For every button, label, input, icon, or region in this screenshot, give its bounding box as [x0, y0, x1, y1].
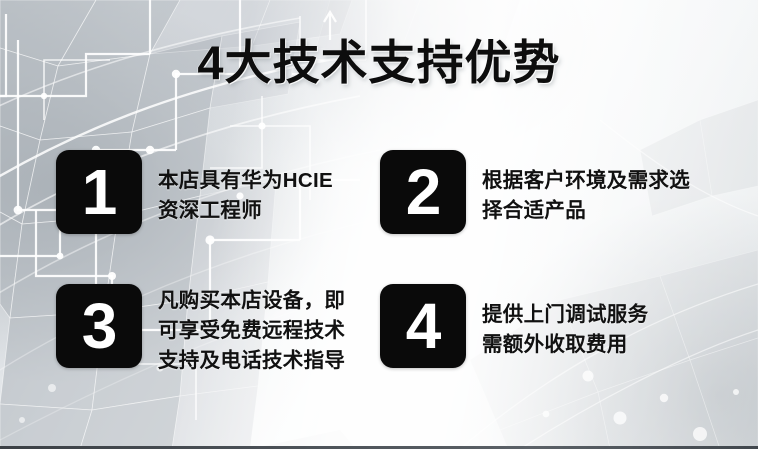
feature-item-4: 4 提供上门调试服务 需额外收取费用: [380, 284, 648, 368]
promo-poster: 4大技术支持优势 1 本店具有华为HCIE 资深工程师 2 根据客户环境及需求选…: [0, 0, 758, 449]
feature-text-4: 提供上门调试服务 需额外收取费用: [482, 284, 648, 360]
feature-number-badge-3: 3: [56, 284, 142, 368]
feature-number-badge-1: 1: [56, 150, 142, 234]
feature-text-line: 需额外收取费用: [482, 330, 648, 360]
feature-text-line: 凡购买本店设备，即: [158, 286, 345, 316]
page-title: 4大技术支持优势: [0, 38, 758, 89]
feature-text-1: 本店具有华为HCIE 资深工程师: [158, 150, 333, 226]
feature-text-2: 根据客户环境及需求选 择合适产品: [482, 150, 690, 226]
feature-text-line: 择合适产品: [482, 196, 690, 226]
feature-number-badge-2: 2: [380, 150, 466, 234]
feature-text-line: 本店具有华为HCIE: [158, 166, 333, 196]
feature-text-line: 根据客户环境及需求选: [482, 166, 690, 196]
feature-text-line: 可享受免费远程技术: [158, 316, 345, 346]
feature-text-3: 凡购买本店设备，即 可享受免费远程技术 支持及电话技术指导: [158, 284, 345, 376]
feature-item-2: 2 根据客户环境及需求选 择合适产品: [380, 150, 690, 234]
feature-text-line: 资深工程师: [158, 196, 333, 226]
feature-item-3: 3 凡购买本店设备，即 可享受免费远程技术 支持及电话技术指导: [56, 284, 345, 376]
feature-text-line: 提供上门调试服务: [482, 300, 648, 330]
feature-item-1: 1 本店具有华为HCIE 资深工程师: [56, 150, 333, 234]
feature-number-badge-4: 4: [380, 284, 466, 368]
feature-text-line: 支持及电话技术指导: [158, 346, 345, 376]
